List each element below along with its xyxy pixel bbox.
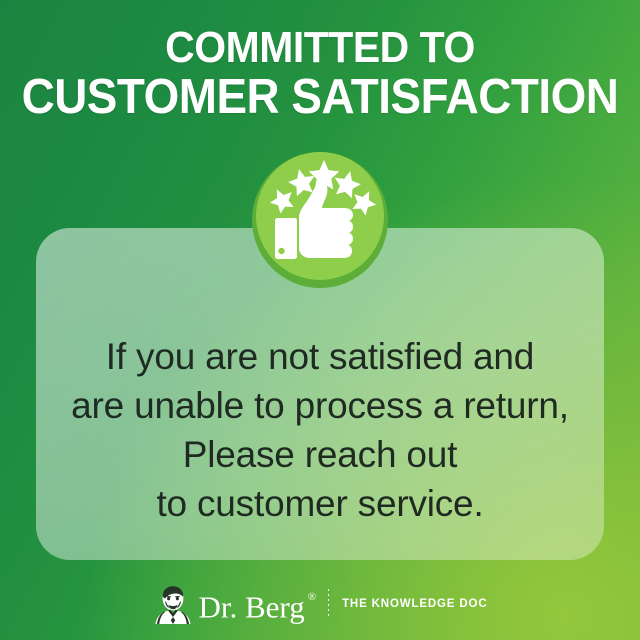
registered-mark-icon: ® (308, 591, 316, 603)
brand-name: Dr. Berg® (199, 588, 314, 622)
dr-berg-portrait-logo-icon (153, 584, 193, 624)
body-line-2: are unable to process a return, (36, 381, 604, 430)
footer-branding: Dr. Berg® THE KNOWLEDGE DOC (0, 582, 640, 626)
thumbs-up-five-stars-badge-icon (252, 152, 388, 288)
satisfaction-badge (252, 152, 388, 288)
cuff-dot (278, 248, 284, 254)
heading-line-2: CUSTOMER SATISFACTION (21, 71, 619, 123)
body-line-3: Please reach out (36, 430, 604, 479)
message-body: If you are not satisfied and are unable … (36, 332, 604, 528)
brand-label: Dr. Berg (199, 589, 305, 624)
poster-canvas: COMMITTED TO CUSTOMER SATISFACTION If yo… (0, 0, 640, 640)
body-line-1: If you are not satisfied and (36, 332, 604, 381)
body-line-4: to customer service. (36, 479, 604, 528)
page-title: COMMITTED TO CUSTOMER SATISFACTION (0, 24, 640, 123)
brand-tagline: THE KNOWLEDGE DOC (342, 598, 487, 610)
cuff-rect (275, 218, 297, 259)
heading-line-1: COMMITTED TO (22, 24, 617, 71)
footer-divider (328, 589, 329, 619)
